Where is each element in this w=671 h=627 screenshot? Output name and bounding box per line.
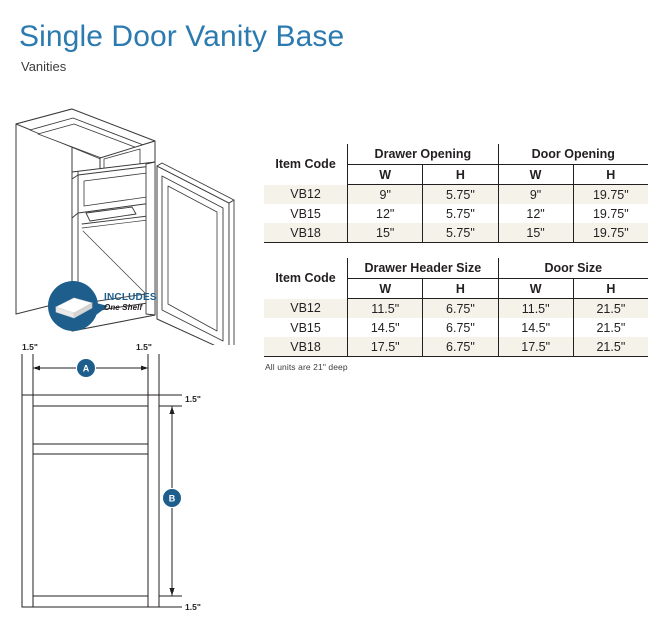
dimension-marker-a: A [77,359,95,377]
table-header-row-group: Item Code Drawer Header Size Door Size [264,258,648,279]
cell-value: 21.5" [573,337,648,357]
cell-value: 19.75" [573,223,648,243]
col-group-drawer-opening: Drawer Opening [348,144,498,165]
page-subtitle: Vanities [21,60,66,73]
col-header-door-w: W [498,165,573,185]
dimension-marker-b: B [163,489,181,507]
cell-item-code: VB15 [264,204,348,223]
table-row: VB18 17.5" 6.75" 17.5" 21.5" [264,337,648,357]
front-elevation-drawing: 1.5" 1.5" 1.5" 1.5" A B [0,340,250,627]
cell-value: 6.75" [423,337,498,357]
dim-top-left-label: 1.5" [22,342,38,352]
cell-item-code: VB12 [264,185,348,205]
dim-right-top-label: 1.5" [185,394,201,404]
cell-value: 15" [498,223,573,243]
col-header-drawer-header-w: W [348,279,423,299]
cell-value: 19.75" [573,204,648,223]
cell-value: 15" [348,223,423,243]
table-header-row-group: Item Code Drawer Opening Door Opening [264,144,648,165]
table-row: VB12 9" 5.75" 9" 19.75" [264,185,648,205]
cell-value: 21.5" [573,318,648,337]
cell-value: 11.5" [498,299,573,319]
cell-value: 5.75" [423,223,498,243]
cell-item-code: VB15 [264,318,348,337]
col-header-door-size-h: H [573,279,648,299]
col-header-door-h: H [573,165,648,185]
table-row: VB15 12" 5.75" 12" 19.75" [264,204,648,223]
col-header-item-code: Item Code [264,258,348,299]
col-group-drawer-header-size: Drawer Header Size [348,258,498,279]
cell-value: 9" [498,185,573,205]
table-row: VB18 15" 5.75" 15" 19.75" [264,223,648,243]
cell-value: 19.75" [573,185,648,205]
cell-item-code: VB18 [264,337,348,357]
cell-value: 12" [348,204,423,223]
col-header-drawer-h: H [423,165,498,185]
cell-item-code: VB12 [264,299,348,319]
component-sizes-table: Item Code Drawer Header Size Door Size W… [264,258,648,357]
depth-note: All units are 21" deep [265,362,348,372]
page-title: Single Door Vanity Base [19,22,344,52]
includes-badge: INCLUDES One Shelf [48,280,188,330]
table-row: VB15 14.5" 6.75" 14.5" 21.5" [264,318,648,337]
cell-value: 6.75" [423,299,498,319]
col-header-door-size-w: W [498,279,573,299]
dim-top-right-label: 1.5" [136,342,152,352]
cell-value: 12" [498,204,573,223]
cell-value: 14.5" [348,318,423,337]
spec-sheet-page: Single Door Vanity Base Vanities [0,0,671,627]
col-header-drawer-w: W [348,165,423,185]
svg-text:B: B [169,494,176,504]
cell-item-code: VB18 [264,223,348,243]
svg-text:A: A [83,364,90,374]
cell-value: 11.5" [348,299,423,319]
dim-right-bottom-label: 1.5" [185,602,201,612]
cell-value: 21.5" [573,299,648,319]
badge-includes-label: INCLUDES [104,293,157,304]
cell-value: 9" [348,185,423,205]
cell-value: 17.5" [498,337,573,357]
cell-value: 17.5" [348,337,423,357]
col-group-door-opening: Door Opening [498,144,648,165]
col-header-item-code: Item Code [264,144,348,185]
cell-value: 5.75" [423,204,498,223]
cell-value: 5.75" [423,185,498,205]
cell-value: 6.75" [423,318,498,337]
cell-value: 14.5" [498,318,573,337]
col-group-door-size: Door Size [498,258,648,279]
table-row: VB12 11.5" 6.75" 11.5" 21.5" [264,299,648,319]
badge-shelf-label: One Shelf [104,304,157,312]
col-header-drawer-header-h: H [423,279,498,299]
opening-dimensions-table: Item Code Drawer Opening Door Opening W … [264,144,648,243]
